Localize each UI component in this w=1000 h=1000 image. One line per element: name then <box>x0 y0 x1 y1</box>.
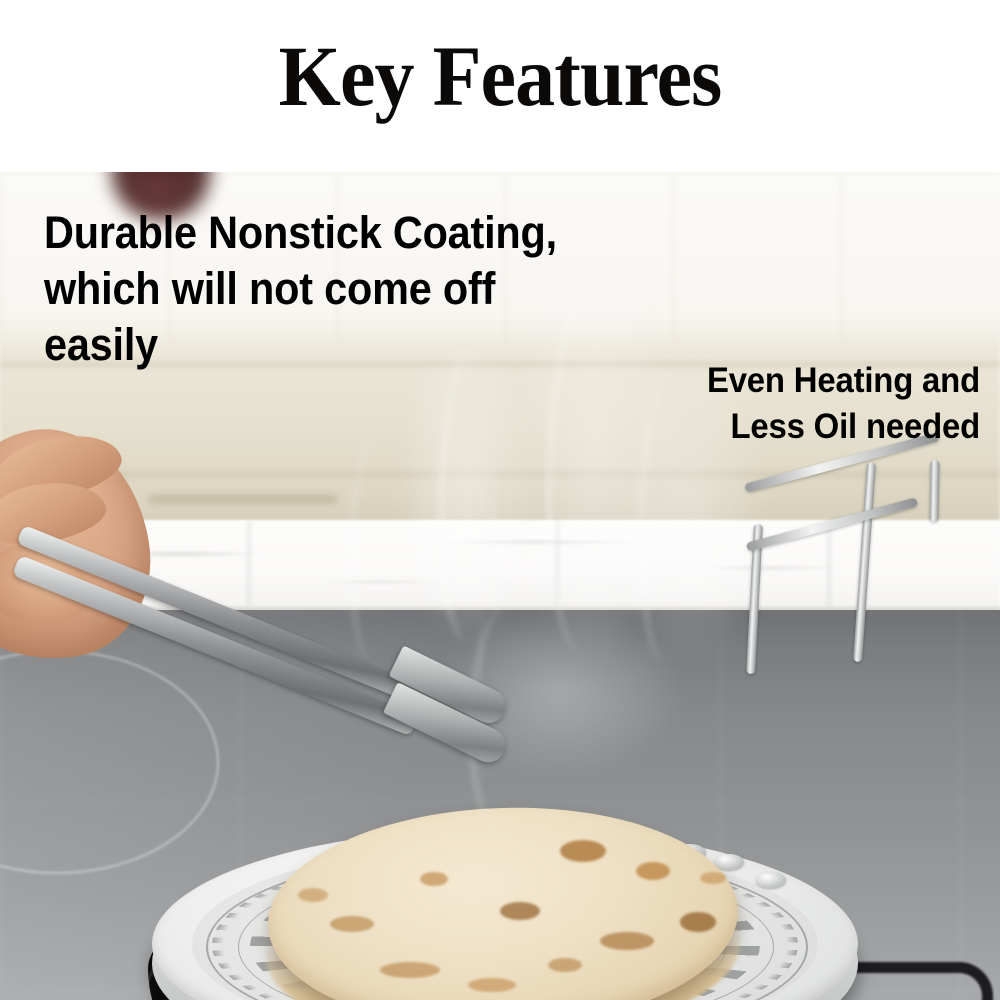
roti-char-spot <box>500 902 540 920</box>
roti-char-spot <box>560 840 606 862</box>
marble-seam-right <box>828 520 830 612</box>
feature-caption-right: Even Heating and Less Oil needed <box>529 358 980 450</box>
roti-char-spot <box>330 916 374 932</box>
roti-char-spot <box>468 978 516 992</box>
cabinet-handle <box>148 494 338 503</box>
caption-left-line-1: Durable Nonstick Coating, <box>44 205 670 261</box>
roti-char-spot <box>380 962 440 978</box>
feature-caption-left: Durable Nonstick Coating, which will not… <box>44 205 670 373</box>
marble-seam-left <box>248 520 250 612</box>
roti-char-spot <box>680 912 716 932</box>
roti-char-spot <box>548 958 582 972</box>
roti-char-spot <box>298 888 328 902</box>
caption-left-line-2: which will not come off <box>44 261 670 317</box>
roti-char-spot <box>636 862 670 880</box>
page-title: Key Features <box>35 33 965 119</box>
product-feature-image: Durable Nonstick Coating, which will not… <box>0 0 1000 1000</box>
tawa-rivet-3 <box>756 872 786 888</box>
roti-char-spot <box>420 872 448 886</box>
header-band: Key Features <box>0 0 1000 172</box>
roti-char-spot <box>700 872 726 884</box>
roti-char-spot <box>600 932 654 950</box>
wire-handle-bridge <box>929 460 939 522</box>
caption-right-line-1: Even Heating and <box>529 358 980 404</box>
caption-right-line-2: Less Oil needed <box>529 404 980 450</box>
